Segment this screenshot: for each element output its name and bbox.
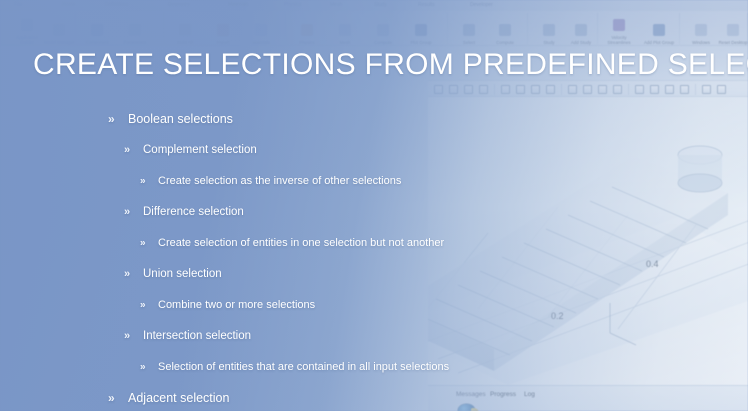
- bullet-text: Union selection: [143, 268, 222, 280]
- bullet-text: Boolean selections: [128, 112, 233, 126]
- bullet-text: Create selection of entities in one sele…: [158, 237, 444, 249]
- bullet-text: Selection of entities that are contained…: [158, 361, 449, 373]
- bullet-item: »Adjacent selection: [0, 382, 520, 411]
- bullet-list: »Boolean selections»Complement selection…: [0, 103, 520, 411]
- bullet-marker-icon: »: [124, 268, 130, 280]
- page-title: CREATE SELECTIONS FROM PREDEFINED SELECT…: [33, 48, 748, 82]
- bullet-item: »Union selection: [0, 258, 520, 289]
- bullet-item: »Selection of entities that are containe…: [0, 351, 520, 382]
- bullet-marker-icon: »: [140, 299, 146, 310]
- bullet-marker-icon: »: [140, 237, 146, 248]
- slide-content: CREATE SELECTIONS FROM PREDEFINED SELECT…: [0, 0, 748, 411]
- bullet-item: »Complement selection: [0, 134, 520, 165]
- bullet-text: Adjacent selection: [128, 391, 229, 405]
- bullet-marker-icon: »: [108, 391, 115, 405]
- bullet-item: »Difference selection: [0, 196, 520, 227]
- bullet-item: »Intersection selection: [0, 320, 520, 351]
- bullet-text: Difference selection: [143, 206, 244, 218]
- bullet-item: »Combine two or more selections: [0, 289, 520, 320]
- presentation-slide: FileHomeDefinitionsGeometryMaterialsPhys…: [0, 0, 748, 411]
- bullet-marker-icon: »: [124, 144, 130, 156]
- bullet-marker-icon: »: [124, 206, 130, 218]
- bullet-text: Complement selection: [143, 144, 257, 156]
- bullet-text: Combine two or more selections: [158, 299, 315, 311]
- bullet-marker-icon: »: [140, 361, 146, 372]
- bullet-text: Create selection as the inverse of other…: [158, 175, 401, 187]
- bullet-item: »Create selection as the inverse of othe…: [0, 165, 520, 196]
- bullet-item: »Boolean selections: [0, 103, 520, 134]
- bullet-marker-icon: »: [108, 112, 115, 126]
- bullet-item: »Create selection of entities in one sel…: [0, 227, 520, 258]
- bullet-marker-icon: »: [140, 175, 146, 186]
- bullet-marker-icon: »: [124, 330, 130, 342]
- bullet-text: Intersection selection: [143, 330, 251, 342]
